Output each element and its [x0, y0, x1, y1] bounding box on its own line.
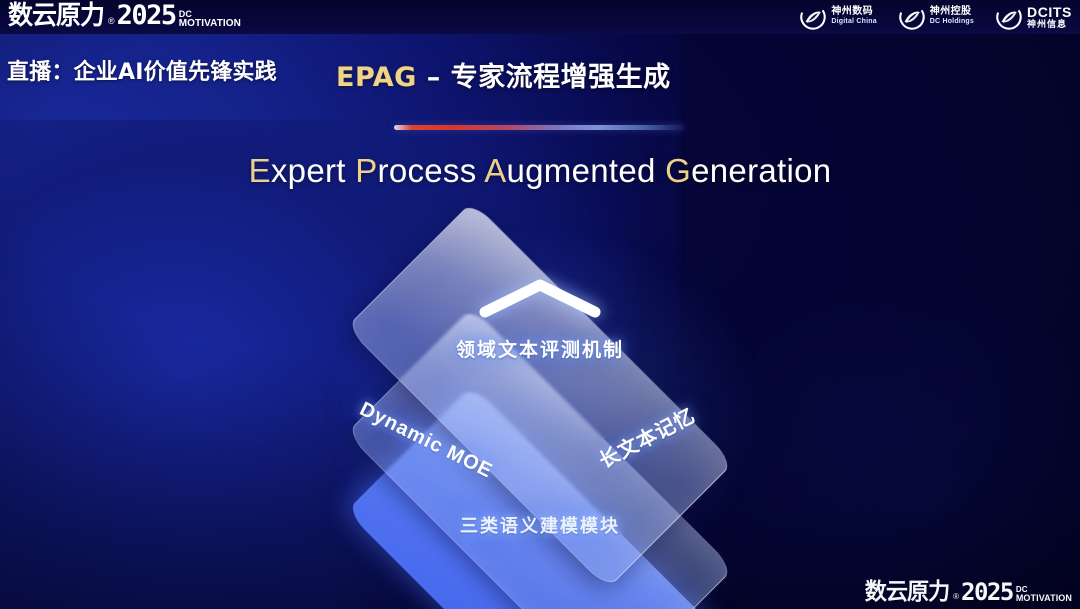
subtitle-part-7: eneration — [691, 152, 831, 189]
watermark-registered-mark: ® — [953, 590, 959, 604]
subtitle-part-3: rocess — [378, 152, 485, 189]
watermark-dc-motivation: DC MOTIVATION — [1016, 585, 1072, 603]
page-title: EPAG – 专家流程增强生成 — [336, 55, 671, 94]
footer-watermark: 数云原力 ® 2025 DC MOTIVATION — [863, 581, 1072, 604]
brand-dc-line2: MOTIVATION — [179, 19, 241, 28]
subtitle-part-2: P — [355, 152, 377, 189]
page-title-chinese: 专家流程增强生成 — [451, 62, 671, 93]
watermark-name-cn: 数云原力 — [865, 581, 949, 604]
watermark-dc-line2: MOTIVATION — [1016, 594, 1072, 603]
partner-name-en: DCITS — [1027, 5, 1072, 19]
partner-logos: 神州数码 Digital China 神州控股 DC Holdings — [800, 4, 1072, 30]
subtitle-part-1: xpert — [271, 152, 355, 189]
subtitle-part-4: A — [484, 152, 506, 189]
brand-name-cn: 数云原力 — [8, 3, 104, 29]
title-divider — [394, 125, 684, 130]
partner-name-en: DC Holdings — [930, 17, 974, 27]
brand-dc-motivation: DC MOTIVATION — [179, 10, 241, 28]
partner-name-cn: 神州数码 — [831, 7, 876, 17]
partner-logo-digital-china: 神州数码 Digital China — [800, 4, 876, 30]
diagram-layer-bottom-label: 三类语义建模模块 — [0, 512, 1080, 538]
slide-stage: 数云原力 ® 2025 DC MOTIVATION 神州数码 Digital C… — [0, 0, 1080, 609]
subtitle-part-6: G — [665, 152, 691, 189]
brand-logo: 数云原力 ® 2025 DC MOTIVATION — [6, 3, 241, 29]
brand-registered-mark: ® — [108, 13, 115, 29]
page-title-acronym: EPAG — [336, 62, 417, 93]
partner-logo-dc-holdings: 神州控股 DC Holdings — [899, 4, 974, 30]
subtitle: Expert Process Augmented Generation — [0, 152, 1080, 190]
brand-year: 2025 — [117, 3, 176, 29]
subtitle-part-5: ugmented — [507, 152, 666, 189]
swirl-logo-icon — [996, 4, 1022, 30]
partner-logo-dcits: DCITS 神州信息 — [996, 4, 1072, 30]
diagram-layer-top-label: 领域文本评测机制 — [0, 335, 1080, 362]
swirl-logo-icon — [800, 4, 826, 30]
subtitle-part-0: E — [249, 152, 271, 189]
partner-name-cn: 神州信息 — [1027, 19, 1072, 29]
swirl-logo-icon — [899, 4, 925, 30]
live-stream-title: 直播：企业AI价值先锋实践 — [7, 54, 277, 86]
partner-name-cn: 神州控股 — [930, 7, 974, 17]
page-title-dash: – — [417, 62, 451, 93]
partner-name-en: Digital China — [831, 17, 876, 27]
watermark-year: 2025 — [961, 581, 1013, 604]
